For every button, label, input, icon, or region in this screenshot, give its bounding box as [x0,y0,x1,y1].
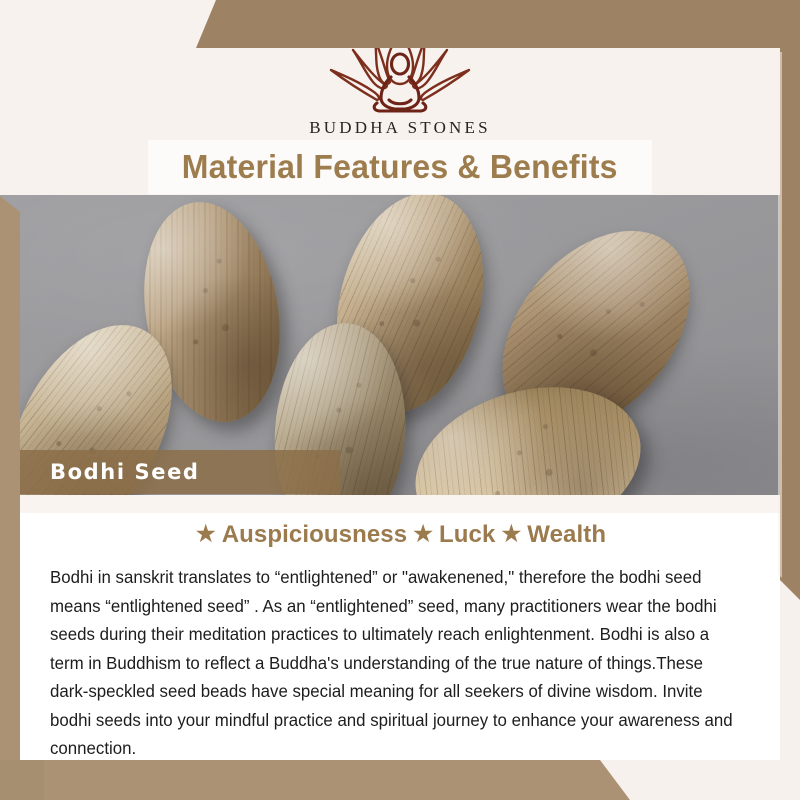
content-panel: ★Auspiciousness★Luck★Wealth Bodhi in san… [20,495,780,760]
star-icon-2: ★ [409,521,437,546]
page-title: Material Features & Benefits [182,148,618,186]
seed-name-badge: Bodhi Seed [20,450,340,494]
seed-name-label: Bodhi Seed [20,460,200,484]
frame-bottom-left-accent [0,760,44,800]
lotus-meditation-icon [315,20,485,116]
description-paragraph: Bodhi in sanskrit translates to “entligh… [50,563,736,763]
benefit-auspiciousness: Auspiciousness [220,521,409,548]
frame-bottom-bar [0,760,630,800]
benefit-wealth: Wealth [525,521,608,548]
panel-top-tint [20,495,780,513]
benefits-heading: ★Auspiciousness★Luck★Wealth [20,521,780,549]
brand-name: BUDDHA STONES [0,118,800,138]
brand-logo: BUDDHA STONES [0,20,800,138]
star-icon-3: ★ [497,521,525,546]
benefit-luck: Luck [437,521,497,548]
star-icon-1: ★ [192,521,220,546]
title-banner: Material Features & Benefits [148,140,652,194]
poster-canvas: BUDDHA STONES Material Features & Benefi… [0,0,800,800]
